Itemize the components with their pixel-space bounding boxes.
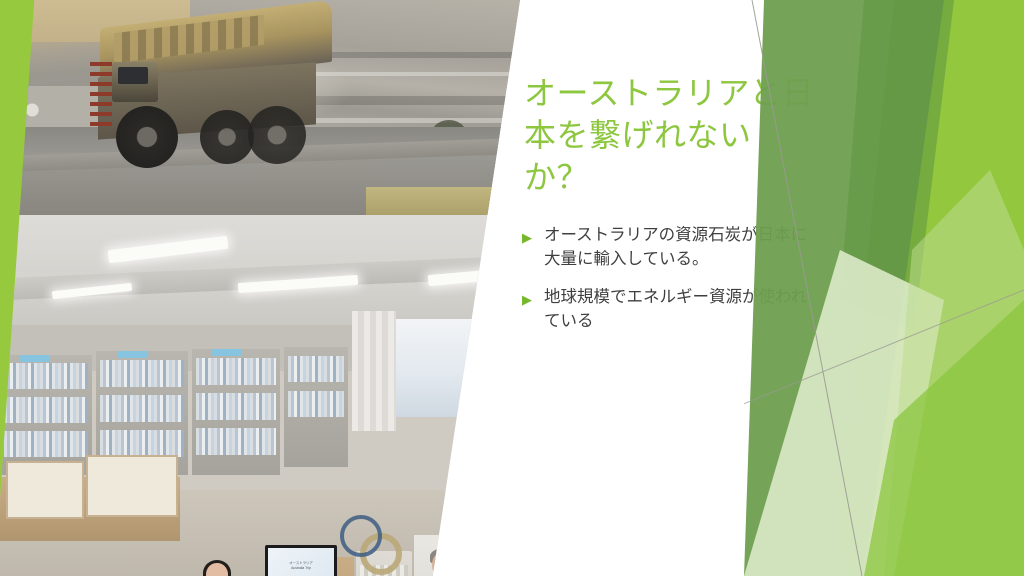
head [432, 551, 458, 576]
books [100, 430, 184, 457]
tv-screen: オーストラリア Australia Trip [268, 548, 334, 576]
tv-slide-text: オーストラリア Australia Trip [289, 561, 313, 571]
teacher [420, 551, 472, 576]
books [196, 393, 276, 420]
books [288, 356, 344, 382]
tv-monitor: オーストラリア Australia Trip [265, 545, 337, 576]
books [288, 391, 344, 417]
deco-svg [744, 0, 1024, 576]
truck-windshield [118, 67, 148, 84]
shelf-sign [118, 351, 148, 358]
standing-student [196, 563, 238, 576]
books [4, 363, 88, 389]
dry-grass [366, 187, 496, 215]
bookshelf [470, 365, 520, 475]
shelf-sign [20, 355, 50, 362]
window [378, 319, 520, 417]
books [474, 373, 516, 397]
mine-scene [0, 0, 520, 215]
library-scene: オーストラリア Australia Trip [0, 215, 520, 576]
display-board [86, 455, 178, 517]
truck-wheel [200, 110, 254, 164]
photo-coal-mine [0, 0, 520, 215]
slide-canvas: オーストラリア Australia Trip [0, 0, 1024, 576]
display-board [6, 461, 84, 519]
books [100, 360, 184, 387]
books [196, 358, 276, 385]
truck-wheel [248, 106, 306, 164]
photo-collage: オーストラリア Australia Trip [0, 0, 520, 576]
green-geometric-decoration [744, 0, 1024, 576]
shelf-sign [212, 349, 242, 356]
curtain [352, 311, 396, 431]
haul-truck [72, 14, 332, 174]
wall-clock [340, 515, 382, 557]
bullet-triangle-icon: ▶ [522, 224, 544, 244]
truck-access-ladder [90, 62, 112, 128]
photo-library-presentation: オーストラリア Australia Trip [0, 215, 520, 576]
books [474, 405, 516, 429]
books [196, 428, 276, 455]
books [4, 431, 88, 457]
books [4, 397, 88, 423]
bullet-triangle-icon: ▶ [522, 286, 544, 306]
books [100, 395, 184, 422]
tv-slide-line2: Australia Trip [289, 566, 313, 571]
truck-wheel [116, 106, 178, 168]
